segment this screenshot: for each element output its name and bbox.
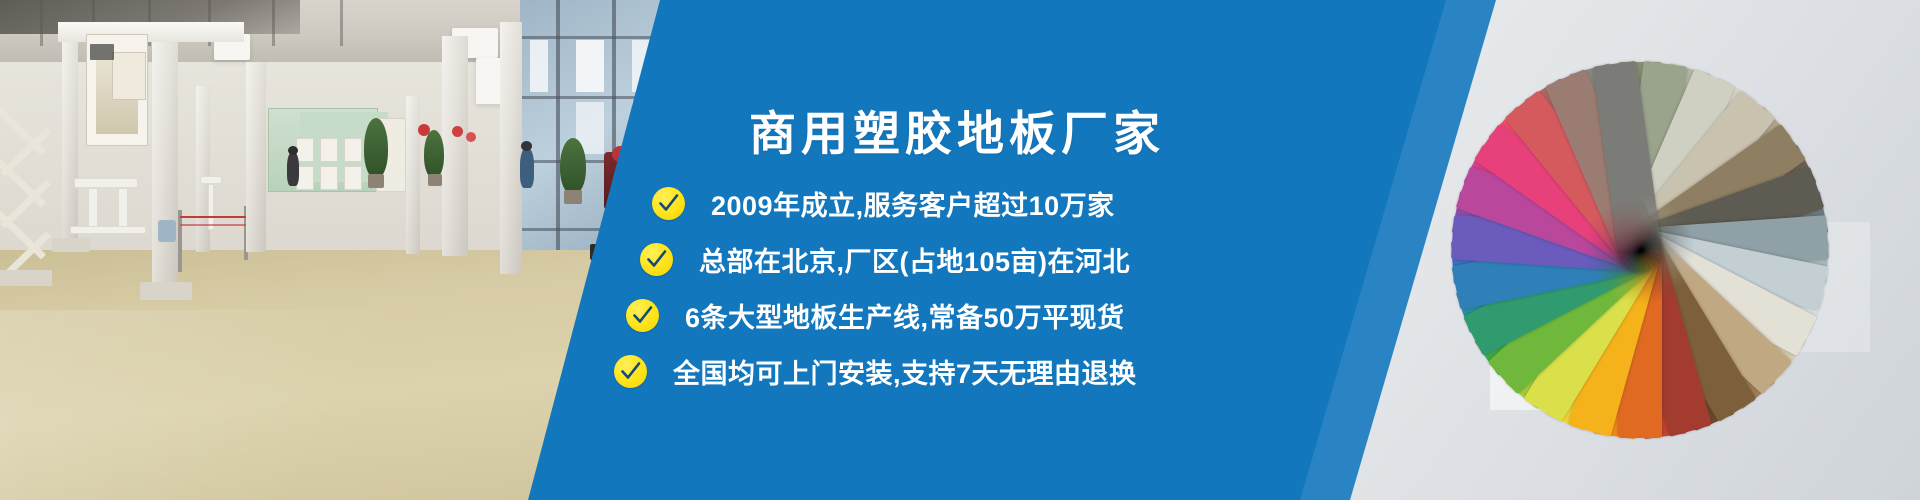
small-frame — [112, 52, 146, 100]
potted-plant — [364, 118, 388, 178]
list-item-label: 全国均可上门安装,支持7天无理由退换 — [673, 352, 1137, 391]
flower — [466, 132, 476, 142]
wall-panel — [320, 138, 338, 162]
plant-pot — [368, 174, 384, 188]
plant-pot — [564, 190, 582, 204]
calligraphy-mark — [90, 44, 114, 60]
table-leg — [118, 188, 128, 230]
wall-panel — [344, 138, 362, 162]
feature-list: 2009年成立,服务客户超过10万家 总部在北京,厂区(占地105亩)在河北 6… — [614, 184, 1220, 391]
booth-column — [152, 42, 178, 286]
lattice-screen — [0, 96, 56, 276]
display-table — [74, 178, 138, 188]
list-item: 全国均可上门安装,支持7天无理由退换 — [614, 352, 1220, 391]
hall-column — [500, 22, 522, 274]
list-item: 6条大型地板生产线,常备50万平现货 — [626, 296, 1220, 335]
barrier-rope — [180, 216, 246, 218]
list-item: 总部在北京,厂区(占地105亩)在河北 — [640, 240, 1220, 279]
table-base — [70, 226, 146, 234]
plant-pot — [428, 174, 442, 186]
wall-panel — [320, 166, 338, 190]
flower — [452, 126, 463, 137]
promo-banner: 商用塑胶地板厂家 2009年成立,服务客户超过10万家 总部在北京,厂区(占地1… — [0, 0, 1920, 500]
visitor-head — [288, 146, 298, 155]
hall-column — [246, 62, 266, 252]
check-circle-icon — [626, 299, 659, 332]
flower — [418, 124, 430, 136]
barrier-rope — [180, 224, 246, 226]
wall-panel — [344, 166, 362, 190]
visitor-head — [521, 141, 532, 151]
blue-vase — [158, 220, 176, 242]
list-item: 2009年成立,服务客户超过10万家 — [652, 184, 1220, 223]
hall-column — [406, 96, 420, 254]
visitor — [520, 148, 534, 188]
column-base — [52, 238, 90, 252]
check-circle-icon — [614, 355, 647, 388]
hall-column — [442, 36, 468, 256]
column-base — [140, 282, 192, 300]
check-circle-icon — [640, 243, 673, 276]
page-title: 商用塑胶地板厂家 — [694, 109, 1220, 158]
lattice-base — [0, 270, 52, 286]
list-item-label: 6条大型地板生产线,常备50万平现货 — [685, 296, 1125, 335]
table-leg — [88, 188, 98, 230]
visitor — [287, 152, 299, 186]
potted-plant — [560, 138, 586, 194]
check-circle-icon — [652, 187, 685, 220]
list-item-label: 总部在北京,厂区(占地105亩)在河北 — [699, 240, 1130, 279]
booth-column — [62, 42, 78, 242]
banner-content: 商用塑胶地板厂家 2009年成立,服务客户超过10万家 总部在北京,厂区(占地1… — [600, 0, 1220, 500]
stool-seat — [200, 176, 222, 184]
potted-plant — [424, 130, 444, 178]
wall-panel — [296, 138, 314, 162]
barrier-post — [178, 210, 182, 272]
list-item-label: 2009年成立,服务客户超过10万家 — [711, 184, 1115, 223]
